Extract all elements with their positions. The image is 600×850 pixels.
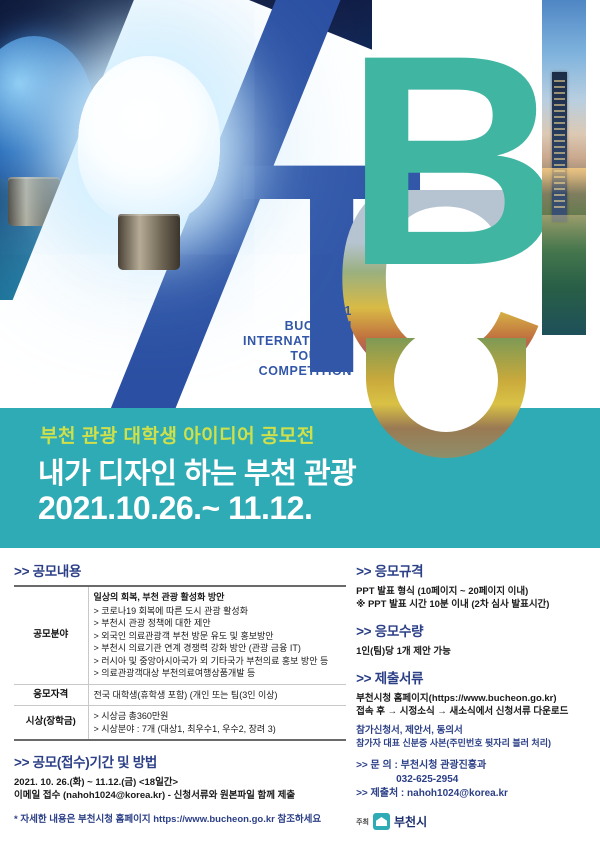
application-period-dates: 2021. 10. 26.(화) ~ 11.12.(금) <18일간> [14, 776, 346, 789]
row-value: 전국 대학생(휴학생 포함) (개인 또는 팀(3인 이상) [88, 684, 346, 706]
english-title-competition: COMPETITION [243, 364, 352, 379]
website-note: * 자세한 내용은 부천시청 홈페이지 https://www.bucheon.… [14, 811, 346, 825]
field-list-item: > 외국인 의료관광객 부천 방문 유도 및 홍보방안 [94, 630, 342, 643]
host-name: 부천시 [394, 813, 427, 830]
host-label: 주최 [356, 817, 369, 827]
table-row: 응모자격 전국 대학생(휴학생 포함) (개인 또는 팀(3인 이상) [14, 684, 346, 706]
english-title-year: 2021 [243, 304, 352, 319]
entry-format-line: PPT 발표 형식 (10페이지 ~ 20페이지 이내) [356, 585, 586, 598]
english-title: 2021 BUCHEON INTERNATIONAL TOURISM COMPE… [243, 304, 352, 379]
row-value: 일상의 회복, 부천 관광 활성화 방안 > 코로나19 회복에 따른 도시 관… [88, 586, 346, 684]
banner-title: 내가 디자인 하는 부천 관광 [38, 450, 356, 492]
banner-dates: 2021.10.26.~ 11.12. [38, 490, 312, 527]
submission-path-line: 접속 후 → 시정소식 → 새소식에서 신청서류 다운로드 [356, 705, 586, 718]
bucheon-city-emblem-icon [373, 813, 390, 830]
field-value-title: 일상의 회복, 부천 관광 활성화 방안 [94, 591, 342, 604]
spec-block: >> 응모규격 PPT 발표 형식 (10페이지 ~ 20페이지 이내) ※ P… [356, 560, 586, 611]
contest-spec-table: 공모분야 일상의 회복, 부천 관광 활성화 방안 > 코로나19 회복에 따른… [14, 585, 346, 741]
logo-letter-b: B [345, 10, 554, 310]
row-label: 시상(장학금) [14, 706, 88, 741]
row-value: > 시상금 총360만원 > 시상분야 : 7개 (대상1, 최우수1, 우수2… [88, 706, 346, 741]
field-list-item: > 시상분야 : 7개 (대상1, 최우수1, 우수2, 장려 3) [94, 723, 342, 736]
host-organization: 주최 부천시 [356, 813, 586, 830]
banner-subtitle: 부천 관광 대학생 아이디어 공모전 [40, 421, 315, 448]
contact-block: >> 문 의 : 부천시청 관광진흥과 032-625-2954 >> 제출처 … [356, 759, 586, 801]
lit-lightbulb-icon [78, 56, 220, 270]
english-title-city: BUCHEON [243, 319, 352, 334]
field-list-item: > 코로나19 회복에 따른 도시 관광 활성화 [94, 605, 342, 618]
submission-website-line: 부천시청 홈페이지(https://www.bucheon.go.kr) [356, 692, 586, 705]
contest-content-heading: >> 공모내용 [14, 560, 346, 580]
application-email-method: 이메일 접수 (nahoh1024@korea.kr) - 신청서류와 원본파일… [14, 789, 346, 802]
left-column: >> 공모내용 공모분야 일상의 회복, 부천 관광 활성화 방안 > 코로나1… [14, 560, 346, 830]
application-period-block: >> 공모(접수)기간 및 방법 2021. 10. 26.(화) ~ 11.1… [14, 751, 346, 802]
poster-root: T C B 2021 BUCHEON INTERNATIONAL TOURISM… [0, 0, 600, 850]
right-column: >> 응모규격 PPT 발표 형식 (10페이지 ~ 20페이지 이내) ※ P… [356, 560, 586, 830]
field-list-item: > 시상금 총360만원 [94, 710, 342, 723]
entry-format-note: ※ PPT 발표 시간 10분 이내 (2차 심사 발표시간) [356, 598, 586, 611]
field-value-title: 전국 대학생(휴학생 포함) (개인 또는 팀(3인 이상) [94, 689, 342, 702]
flower-photo-circle [366, 338, 526, 458]
info-section: >> 공모내용 공모분야 일상의 회복, 부천 관광 활성화 방안 > 코로나1… [0, 548, 600, 850]
field-list-item: > 의료관광객대상 부천의료여행상품개발 등 [94, 667, 342, 680]
english-title-tourism: TOURISM [243, 349, 352, 364]
field-list-item: > 러시아 및 중앙아시아국가 외 기타국가 부천의료 홍보 방안 등 [94, 655, 342, 668]
application-period-heading: >> 공모(접수)기간 및 방법 [14, 751, 346, 771]
title-banner: 부천 관광 대학생 아이디어 공모전 내가 디자인 하는 부천 관광 2021.… [0, 408, 600, 548]
english-title-international: INTERNATIONAL [243, 334, 352, 349]
entry-format-heading: >> 응모규격 [356, 560, 586, 580]
entry-quantity-line: 1인(팀)당 1개 제안 가능 [356, 645, 586, 658]
logo-letter-i-cityscape-photo [542, 0, 586, 335]
field-list-item: > 부천시 의료기관 연계 경쟁력 강화 방안 (관광 금융 IT) [94, 642, 342, 655]
table-row: 시상(장학금) > 시상금 총360만원 > 시상분야 : 7개 (대상1, 최… [14, 706, 346, 741]
quantity-block: >> 응모수량 1인(팀)당 1개 제안 가능 [356, 620, 586, 658]
required-document-item: 참가신청서, 제안서, 동의서 [356, 724, 586, 737]
table-row: 공모분야 일상의 회복, 부천 관광 활성화 방안 > 코로나19 회복에 따른… [14, 586, 346, 684]
submission-documents-heading: >> 제출서류 [356, 667, 586, 687]
row-label: 응모자격 [14, 684, 88, 706]
submission-email[interactable]: >> 제출처 : nahoh1024@korea.kr [356, 787, 586, 801]
required-document-item: 참가자 대표 신분증 사본(주민번호 뒷자리 블러 처리) [356, 737, 586, 750]
entry-quantity-heading: >> 응모수량 [356, 620, 586, 640]
inquiry-phone[interactable]: 032-625-2954 [356, 773, 586, 787]
inquiry-department: >> 문 의 : 부천시청 관광진흥과 [356, 759, 586, 773]
documents-block: >> 제출서류 부천시청 홈페이지(https://www.bucheon.go… [356, 667, 586, 750]
row-label: 공모분야 [14, 586, 88, 684]
field-list-item: > 부천시 관광 정책에 대한 제안 [94, 617, 342, 630]
